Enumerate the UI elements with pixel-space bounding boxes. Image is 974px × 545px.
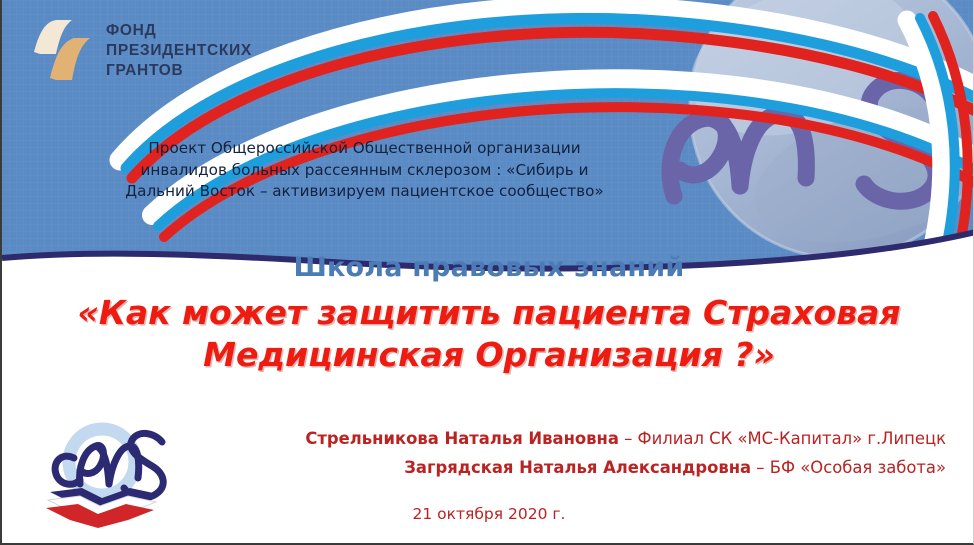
presidential-grants-fund-logo: ФОНД ПРЕЗИДЕНТСКИХ ГРАНТОВ xyxy=(30,16,252,86)
presenter-separator: – xyxy=(751,458,770,477)
title-line-1: «Как может защитить пациента Страховая xyxy=(32,292,946,334)
presenter-affiliation: БФ «Особая забота» xyxy=(770,458,946,477)
page-title: «Как может защитить пациента Страховая М… xyxy=(32,292,946,376)
title-line-2: Медицинская Организация ?» xyxy=(32,334,946,376)
project-description: Проект Общероссийской Общественной орган… xyxy=(107,138,622,203)
school-subtitle: Школа правовых знаний xyxy=(2,252,974,283)
presenter-separator: – xyxy=(619,429,638,448)
presenter-name: Загрядская Наталья Александровна xyxy=(404,458,751,477)
grants-fund-label: ФОНД ПРЕЗИДЕНТСКИХ ГРАНТОВ xyxy=(106,21,252,80)
presentation-slide: ФОНД ПРЕЗИДЕНТСКИХ ГРАНТОВ Проект Общеро… xyxy=(0,0,974,545)
presenter-affiliation: Филиал СК «МС-Капитал» г.Липецк xyxy=(638,429,946,448)
presenter-name: Стрельникова Наталья Ивановна xyxy=(305,429,619,448)
grants-fund-emblem-icon xyxy=(30,16,92,86)
ms-multiple-sclerosis-logo xyxy=(34,418,174,530)
